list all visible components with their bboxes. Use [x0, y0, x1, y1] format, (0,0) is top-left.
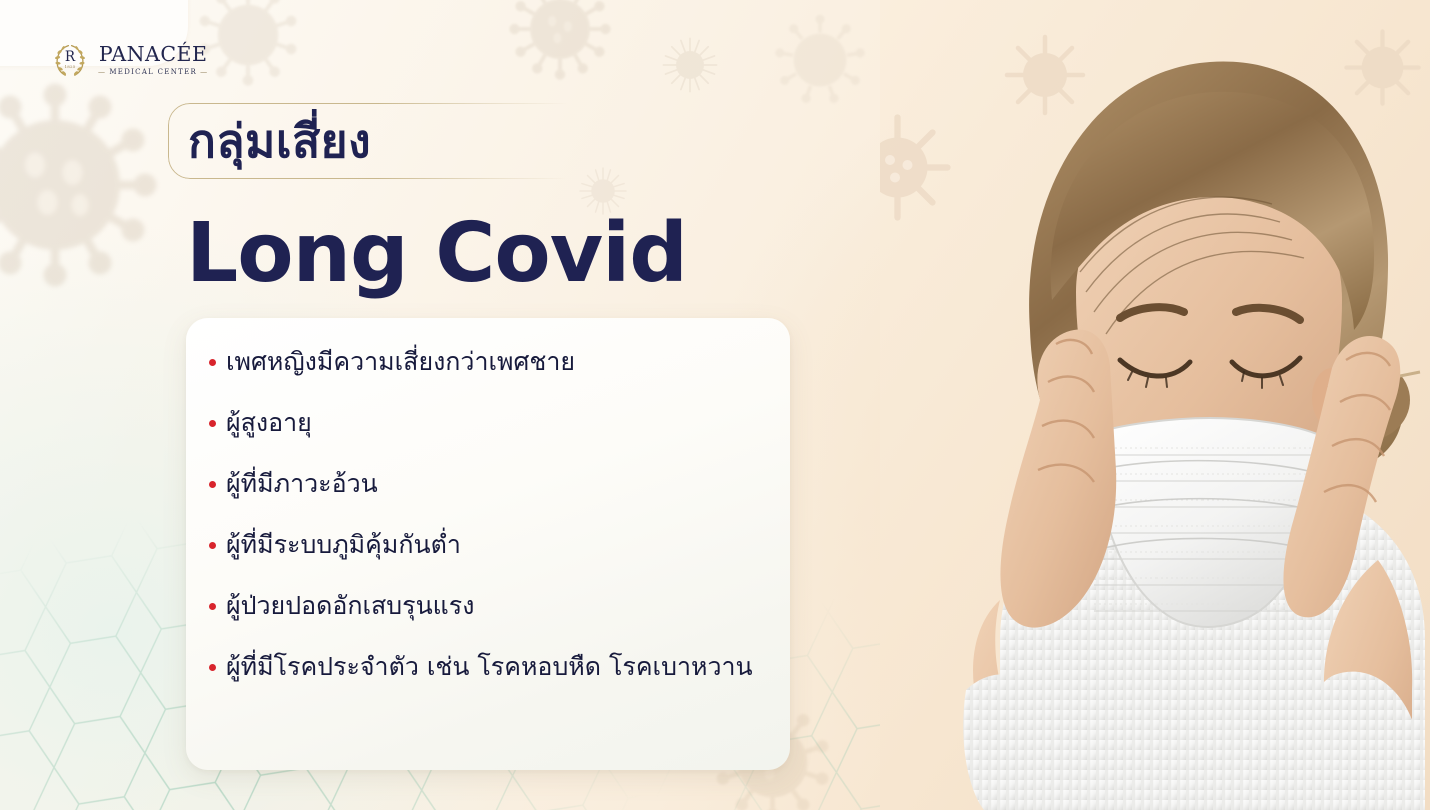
list-item-label: ผู้ที่มีภาวะอ้วน: [226, 469, 378, 498]
list-item-label: ผู้สูงอายุ: [226, 408, 312, 437]
list-item: ผู้ป่วยปอดอักเสบรุนแรง: [200, 588, 760, 623]
list-item-label: เพศหญิงมีความเสี่ยงกว่าเพศชาย: [226, 347, 575, 376]
poster-canvas: R 1825 PANACÉE —MEDICAL CENTER— กลุ่มเสี…: [0, 0, 1430, 810]
brand-wordmark: PANACÉE —MEDICAL CENTER—: [95, 44, 211, 77]
list-item: ผู้สูงอายุ: [200, 405, 760, 440]
bullet-dot-icon: [209, 359, 216, 366]
list-item: ผู้ที่มีโรคประจำตัว เช่น โรคหอบหืด โรคเบ…: [200, 649, 760, 684]
list-item: เพศหญิงมีความเสี่ยงกว่าเพศชาย: [200, 344, 760, 379]
list-item: ผู้ที่มีภาวะอ้วน: [200, 466, 760, 501]
risk-group-badge-label: กลุ่มเสี่ยง: [188, 106, 371, 176]
coronavirus-decor-icon: [760, 0, 880, 120]
coronavirus-decor-icon: [495, 0, 625, 94]
risk-list: เพศหญิงมีความเสี่ยงกว่าเพศชาย ผู้สูงอายุ…: [200, 344, 760, 684]
svg-text:R: R: [65, 49, 76, 65]
list-item-label: ผู้ที่มีระบบภูมิคุ้มกันต่ำ: [226, 530, 461, 559]
bullet-dot-icon: [209, 664, 216, 671]
list-item-label: ผู้ป่วยปอดอักเสบรุนแรง: [226, 591, 474, 620]
risk-list-card: เพศหญิงมีความเสี่ยงกว่าเพศชาย ผู้สูงอายุ…: [186, 318, 790, 770]
list-item: ผู้ที่มีระบบภูมิคุ้มกันต่ำ: [200, 527, 760, 562]
bullet-dot-icon: [209, 481, 216, 488]
bullet-dot-icon: [209, 420, 216, 427]
laurel-wreath-monogram-icon: R 1825: [50, 40, 90, 80]
list-item-label: ผู้ที่มีโรคประจำตัว เช่น โรคหอบหืด โรคเบ…: [226, 652, 753, 681]
page-title: Long Covid: [186, 206, 687, 302]
brand-logo[interactable]: R 1825 PANACÉE —MEDICAL CENTER—: [50, 40, 211, 80]
brand-tagline: —MEDICAL CENTER—: [95, 68, 211, 76]
bullet-dot-icon: [209, 603, 216, 610]
svg-text:1825: 1825: [65, 64, 76, 69]
coronavirus-decor-icon: [0, 60, 180, 310]
coronavirus-decor-icon: [655, 30, 725, 100]
brand-name: PANACÉE: [99, 44, 208, 65]
patient-photo: [880, 0, 1430, 810]
bullet-dot-icon: [209, 542, 216, 549]
